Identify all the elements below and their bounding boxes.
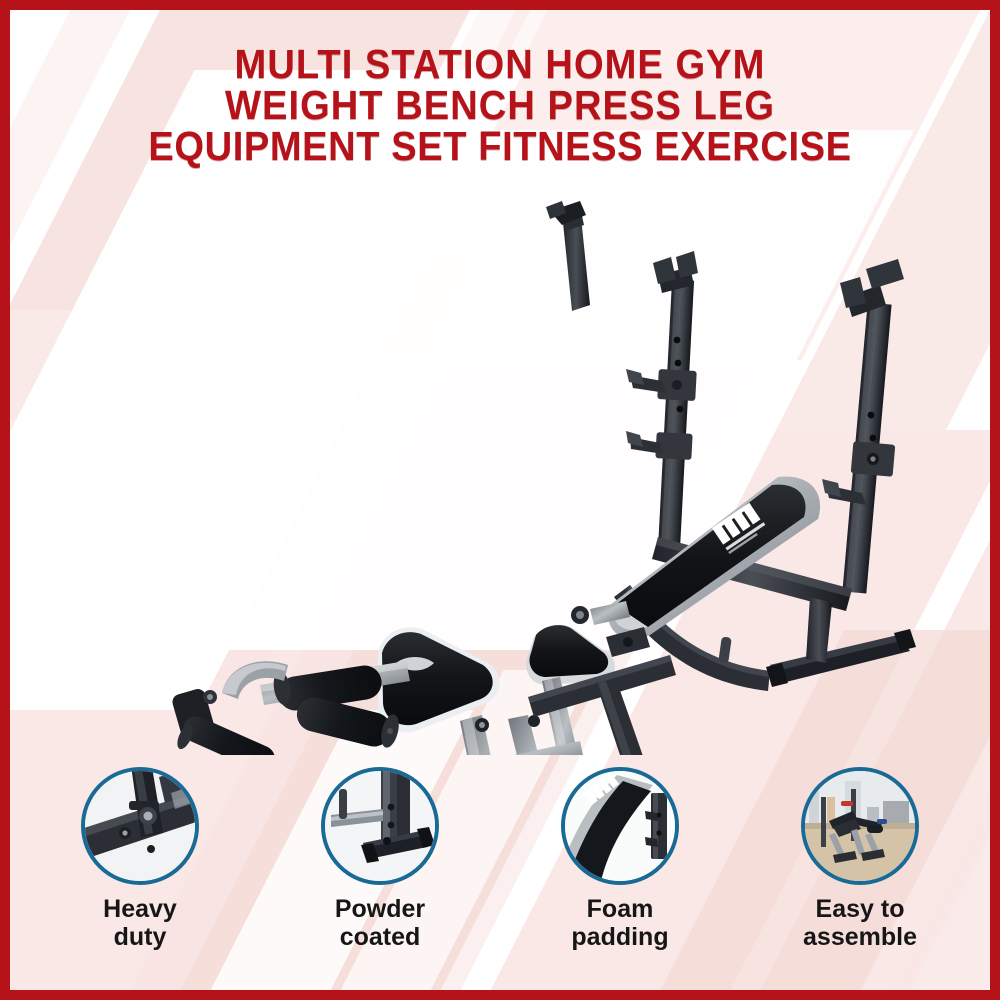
feature-thumbnail-heavy-duty (81, 767, 199, 885)
feature-foam-padding: Foam padding (525, 767, 715, 951)
feature-label-line2: padding (571, 923, 668, 951)
right-upright-column (822, 259, 904, 593)
bench-in-gym-photo-icon (805, 771, 915, 881)
seat-pivot-bracket (606, 627, 650, 657)
feature-thumbnail-easy-to-assemble (801, 767, 919, 885)
title-line-2: WEIGHT BENCH PRESS LEG (44, 85, 955, 126)
backrest-pad (608, 476, 820, 638)
feature-highlights-row: Heavy duty (20, 767, 980, 972)
feature-label-powder-coated: Powder coated (335, 895, 425, 951)
feature-easy-to-assemble: Easy to assemble (765, 767, 955, 951)
feature-label-line1: Powder (335, 895, 425, 923)
feature-thumbnail-powder-coated (321, 767, 439, 885)
feature-label-foam-padding: Foam padding (571, 895, 668, 951)
weight-bench-illustration (110, 185, 940, 755)
upright-base-closeup-icon (325, 771, 435, 881)
title-line-1: MULTI STATION HOME GYM (44, 44, 955, 85)
feature-label-line1: Foam (587, 895, 654, 923)
frame-joint-closeup-icon (85, 771, 195, 881)
right-stabilizer-foot (766, 597, 916, 687)
feature-label-easy-to-assemble: Easy to assemble (803, 895, 917, 951)
feature-heavy-duty: Heavy duty (45, 767, 235, 951)
feature-powder-coated: Powder coated (285, 767, 475, 951)
rear-right-upright (546, 201, 590, 311)
left-handle-assembly (171, 661, 288, 755)
feature-thumbnail-foam-padding (561, 767, 679, 885)
feature-label-line2: duty (114, 923, 167, 951)
backrest-pad-closeup-icon (565, 771, 675, 881)
left-upright-column (626, 251, 698, 555)
feature-label-line1: Easy to (816, 895, 905, 923)
feature-label-line2: assemble (803, 923, 917, 951)
feature-label-line2: coated (340, 923, 421, 951)
product-image (110, 185, 940, 755)
product-image-canvas: MULTI STATION HOME GYM WEIGHT BENCH PRES… (0, 0, 1000, 1000)
feature-label-heavy-duty: Heavy duty (103, 895, 177, 951)
product-title: MULTI STATION HOME GYM WEIGHT BENCH PRES… (44, 44, 955, 167)
feature-label-line1: Heavy (103, 895, 177, 923)
title-line-3: EQUIPMENT SET FITNESS EXERCISE (44, 126, 955, 167)
